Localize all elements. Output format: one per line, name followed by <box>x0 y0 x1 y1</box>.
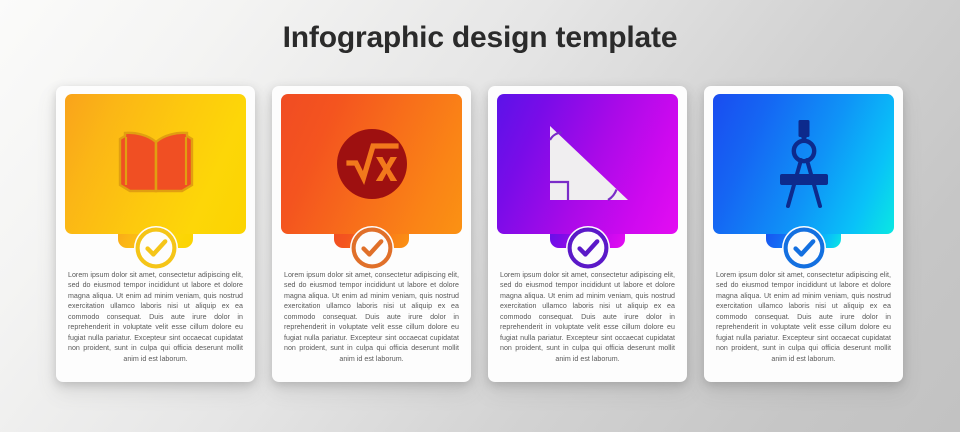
card-body-text: Lorem ipsum dolor sit amet, consectetur … <box>716 270 891 364</box>
check-icon <box>795 241 813 254</box>
check-badge-yellow <box>134 226 178 270</box>
infographic-card-compass[interactable]: Lorem ipsum dolor sit amet, consectetur … <box>704 86 903 382</box>
infographic-card-square-root[interactable]: Lorem ipsum dolor sit amet, consectetur … <box>272 86 471 382</box>
check-icon <box>579 241 597 254</box>
check-badge-purple <box>566 226 610 270</box>
card-body-text: Lorem ipsum dolor sit amet, consectetur … <box>500 270 675 364</box>
infographic-card-row: Lorem ipsum dolor sit amet, consectetur … <box>56 86 912 382</box>
icon-area-book <box>65 94 246 234</box>
check-badge-yellow-container <box>134 226 178 270</box>
check-badge-blue <box>782 226 826 270</box>
compass-handle <box>798 120 809 137</box>
check-badge-blue-container <box>782 226 826 270</box>
compass-crossbar <box>780 174 828 185</box>
check-badge-orange-container <box>350 226 394 270</box>
icon-area-square-root <box>281 94 462 234</box>
check-badge-orange <box>350 226 394 270</box>
check-badge-purple-container <box>566 226 610 270</box>
open-book-icon <box>113 128 199 200</box>
card-body-text: Lorem ipsum dolor sit amet, consectetur … <box>68 270 243 364</box>
icon-area-compass <box>713 94 894 234</box>
infographic-card-book[interactable]: Lorem ipsum dolor sit amet, consectetur … <box>56 86 255 382</box>
square-root-icon <box>334 126 410 202</box>
compass-hinge <box>793 141 813 161</box>
icon-area-right-triangle <box>497 94 678 234</box>
right-triangle-icon <box>542 120 634 208</box>
drawing-compass-icon <box>771 118 837 210</box>
triangle-shape <box>550 126 628 200</box>
infographic-card-right-triangle[interactable]: Lorem ipsum dolor sit amet, consectetur … <box>488 86 687 382</box>
card-body-text: Lorem ipsum dolor sit amet, consectetur … <box>284 270 459 364</box>
page-title: Infographic design template <box>0 21 960 55</box>
check-icon <box>363 241 381 254</box>
check-icon <box>147 241 165 254</box>
